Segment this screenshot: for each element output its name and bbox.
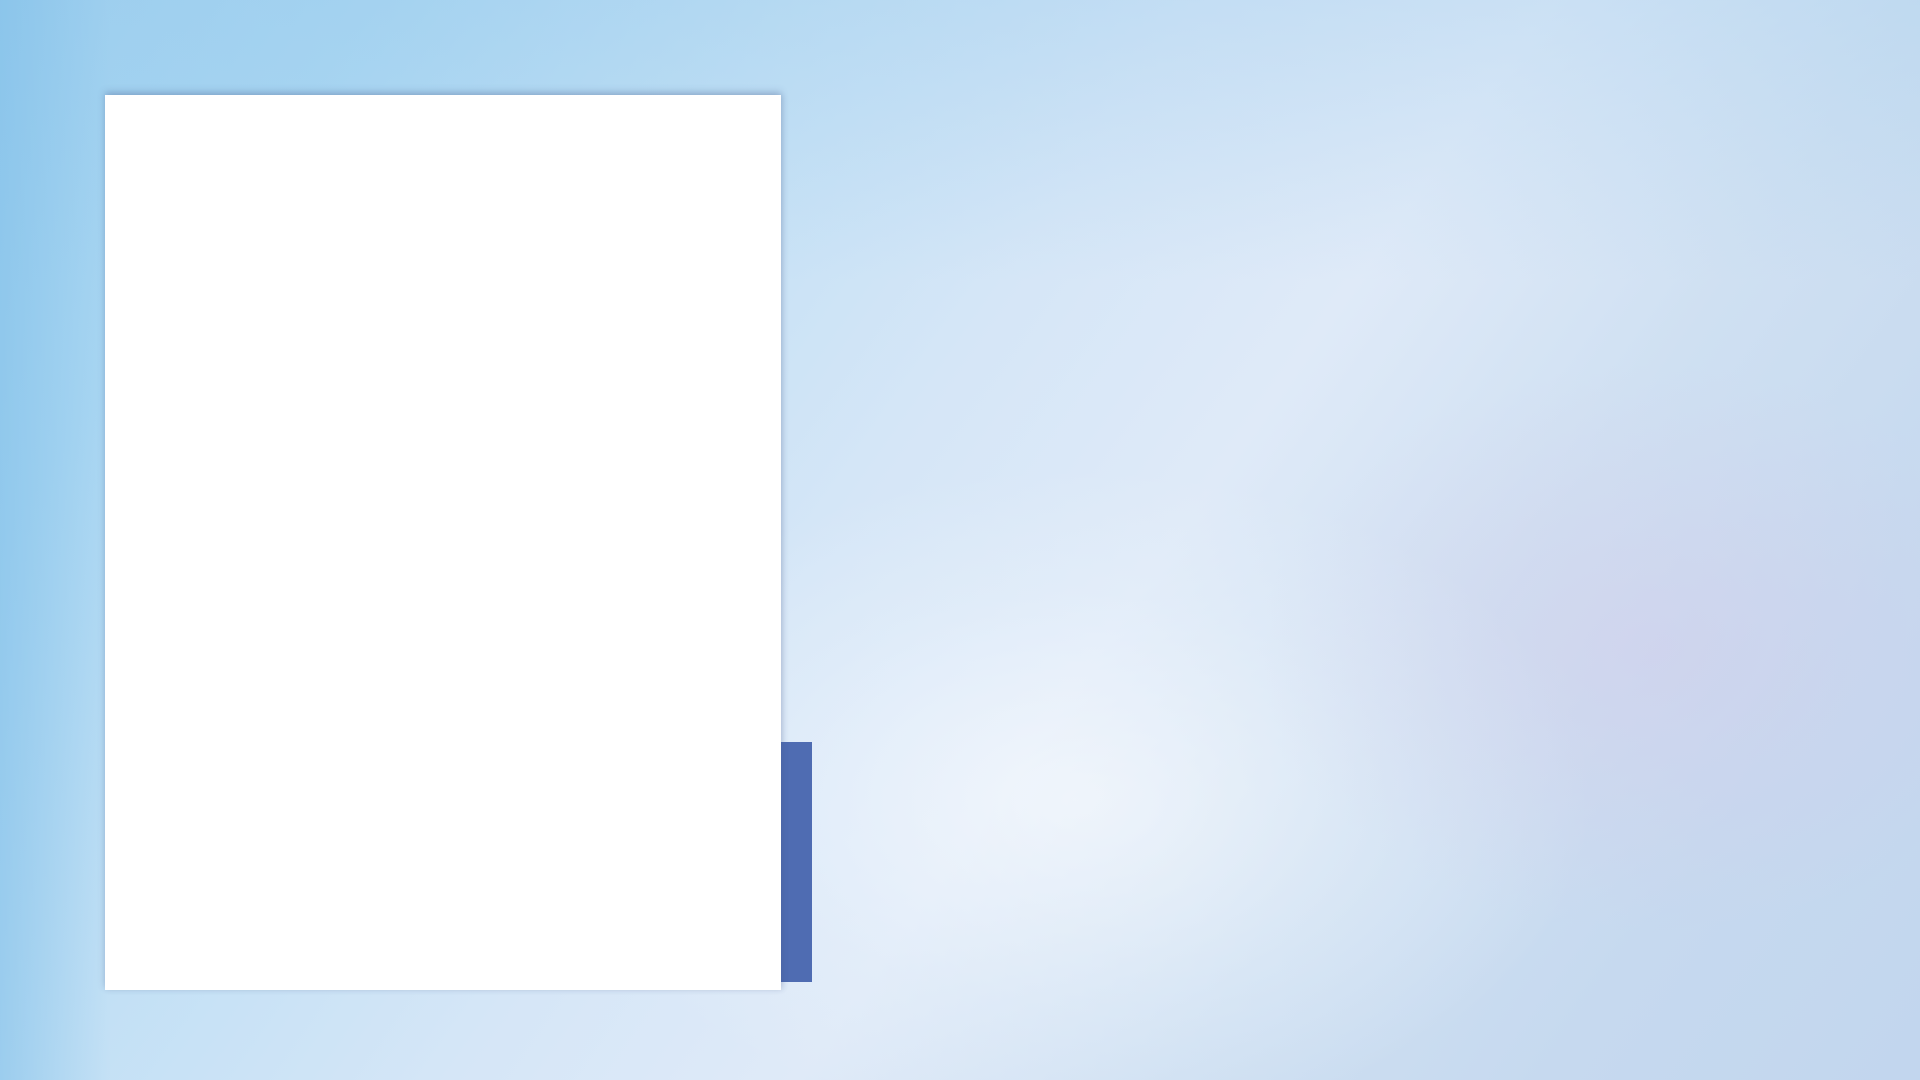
principles-panel <box>1020 95 1860 995</box>
flowchart-panel <box>105 95 781 990</box>
flowchart-connectors <box>105 95 781 990</box>
background-left-tint <box>0 0 110 1080</box>
